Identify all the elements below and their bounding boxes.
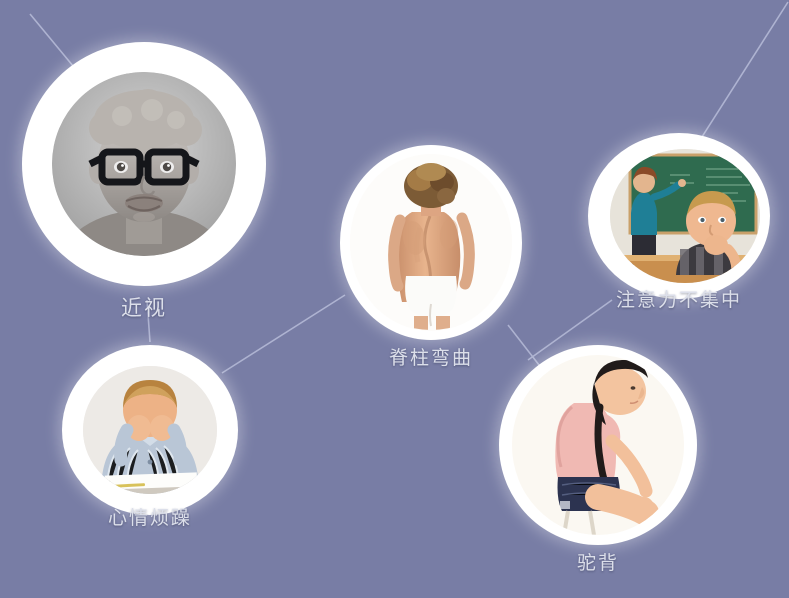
attention-bubble[interactable] bbox=[588, 133, 770, 299]
edge-offscreen-to-attention bbox=[700, 2, 788, 140]
boy-with-glasses-photo bbox=[52, 72, 236, 256]
node-spine[interactable]: 脊柱弯曲 bbox=[340, 145, 522, 340]
frustrated-boy-at-desk-photo bbox=[83, 366, 217, 494]
node-mood[interactable]: 心情烦躁 bbox=[62, 345, 238, 515]
hunch-bubble[interactable] bbox=[499, 345, 697, 545]
mood-bubble[interactable] bbox=[62, 345, 238, 515]
infographic-canvas: 近视 bbox=[0, 0, 789, 598]
node-myopia[interactable]: 近视 bbox=[22, 42, 266, 286]
myopia-label: 近视 bbox=[22, 292, 266, 322]
spine-bubble[interactable] bbox=[340, 145, 522, 340]
curved-spine-back-photo bbox=[350, 154, 512, 331]
myopia-bubble[interactable] bbox=[22, 42, 266, 286]
hunch-label: 驼背 bbox=[499, 548, 697, 575]
attention-label: 注意力不集中 bbox=[588, 285, 770, 312]
node-hunch[interactable]: 驼背 bbox=[499, 345, 697, 545]
distracted-student-classroom-photo bbox=[610, 149, 760, 283]
node-attention[interactable]: 注意力不集中 bbox=[588, 133, 770, 299]
spine-label: 脊柱弯曲 bbox=[340, 343, 522, 370]
mood-label: 心情烦躁 bbox=[62, 503, 238, 530]
slouching-girl-seated-photo bbox=[512, 355, 684, 535]
